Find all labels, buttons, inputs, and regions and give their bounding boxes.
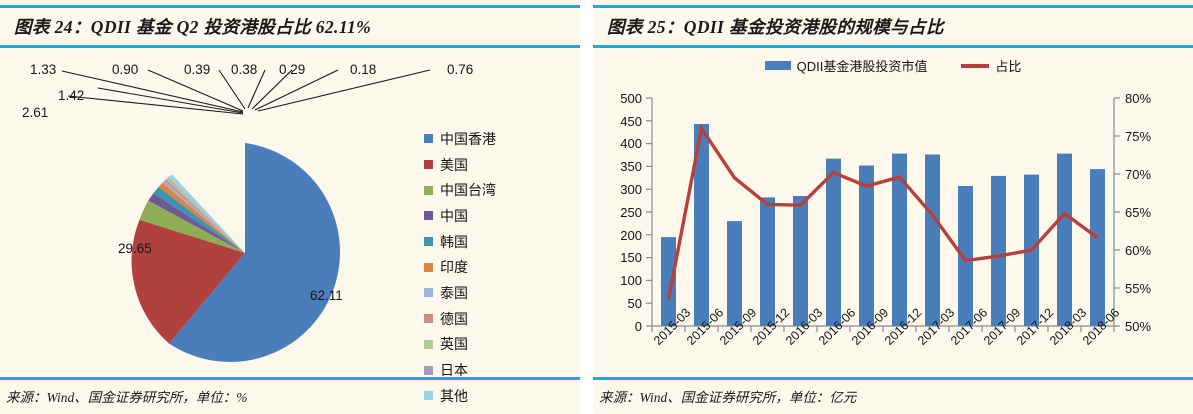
- bar-2017-09: [991, 176, 1006, 326]
- pie-value-label-0-39: 0.39: [184, 62, 210, 77]
- figure-24-source-block: 来源：Wind、国金证券研究所，单位：%: [0, 377, 580, 414]
- pie-value-label-62-11: 62.11: [310, 288, 343, 303]
- pie-value-label-1-33: 1.33: [30, 62, 56, 77]
- pie-value-label-1-42: 1.42: [58, 88, 84, 103]
- bar-2017-03: [925, 155, 940, 327]
- pie-legend: 中国香港 美国 中国台湾 中国 韩国: [424, 126, 496, 409]
- legend-swatch-icon: [424, 160, 433, 169]
- bar-2016-09: [859, 166, 874, 327]
- pie-legend-item-7[interactable]: 德国: [424, 306, 496, 332]
- left-axis-tick-200: 200: [596, 228, 642, 243]
- pie-legend-label: 英国: [440, 334, 468, 354]
- pie-legend-item-0[interactable]: 中国香港: [424, 126, 496, 152]
- left-axis-tick-150: 150: [596, 250, 642, 265]
- pie-legend-item-1[interactable]: 美国: [424, 152, 496, 178]
- legend-swatch-icon: [424, 237, 433, 246]
- pie-legend-item-8[interactable]: 英国: [424, 332, 496, 358]
- pie-legend-label: 中国台湾: [440, 180, 496, 200]
- pie-value-label-29-65: 29.65: [118, 241, 152, 256]
- pie-value-label-0-18: 0.18: [350, 62, 376, 77]
- pie-chart-area: 1.33 1.42 2.61 0.90 0.39 0.38 0.29 0.18 …: [0, 48, 580, 363]
- right-axis-ticks: [1114, 98, 1120, 326]
- pie-legend-item-2[interactable]: 中国台湾: [424, 177, 496, 203]
- legend-swatch-icon: [424, 186, 433, 195]
- left-axis-tick-350: 350: [596, 159, 642, 174]
- bar-series-market-value: [661, 124, 1105, 326]
- pie-legend-label: 泰国: [440, 283, 468, 303]
- legend-swatch-icon: [424, 288, 433, 297]
- bar-2015-12: [760, 197, 775, 326]
- left-axis-tick-100: 100: [596, 273, 642, 288]
- right-axis-tick-80: 80%: [1125, 91, 1151, 106]
- left-axis-tick-50: 50: [596, 296, 642, 311]
- pie-value-label-2-61: 2.61: [22, 105, 48, 120]
- legend-swatch-icon: [424, 340, 433, 349]
- bar-chart-area: QDII基金港股投资市值 占比: [593, 48, 1193, 378]
- pie-legend-label: 中国香港: [440, 129, 496, 149]
- left-axis-tick-300: 300: [596, 182, 642, 197]
- pie-legend-item-3[interactable]: 中国: [424, 203, 496, 229]
- bar-2018-06: [1090, 169, 1105, 326]
- bar-2015-09: [727, 221, 742, 326]
- figure-25-panel: 图表 25：QDII 基金投资港股的规模与占比 QDII基金港股投资市值 占比: [593, 0, 1193, 414]
- panel-gutter: [580, 0, 593, 414]
- left-axis-ticks: [646, 98, 652, 326]
- right-axis-tick-50: 50%: [1125, 319, 1151, 334]
- figure-24-source: 来源：Wind、国金证券研究所，单位：%: [0, 380, 580, 414]
- pie-value-label-0-76: 0.76: [447, 62, 473, 77]
- bar-2016-06: [826, 159, 841, 326]
- left-axis-tick-0: 0: [596, 319, 642, 334]
- right-axis-tick-75: 75%: [1125, 129, 1151, 144]
- bar-2018-03: [1057, 154, 1072, 326]
- legend-swatch-icon: [424, 134, 433, 143]
- pie-legend-item-6[interactable]: 泰国: [424, 280, 496, 306]
- report-figures-page: 图表 24：QDII 基金 Q2 投资港股占比 62.11%: [0, 0, 1193, 414]
- pie-legend-label: 韩国: [440, 232, 468, 252]
- pie-legend-item-4[interactable]: 韩国: [424, 229, 496, 255]
- pie-slices: [132, 143, 340, 362]
- pie-value-label-0-38: 0.38: [231, 62, 257, 77]
- pie-legend-label: 中国: [440, 206, 468, 226]
- figure-24-panel: 图表 24：QDII 基金 Q2 投资港股占比 62.11%: [0, 0, 580, 414]
- left-axis-tick-250: 250: [596, 205, 642, 220]
- bar-2016-03: [793, 196, 808, 326]
- pie-legend-label: 美国: [440, 155, 468, 175]
- left-axis-tick-500: 500: [596, 91, 642, 106]
- pie-value-label-0-90: 0.90: [112, 62, 138, 77]
- pie-value-label-0-29: 0.29: [279, 62, 305, 77]
- legend-swatch-icon: [424, 314, 433, 323]
- bar-2015-03: [661, 237, 676, 326]
- pie-legend-label: 德国: [440, 309, 468, 329]
- legend-swatch-icon: [424, 366, 433, 375]
- figure-25-source: 来源：Wind、国金证券研究所，单位：亿元: [593, 380, 1193, 414]
- left-axis-tick-450: 450: [596, 114, 642, 129]
- right-axis-tick-55: 55%: [1125, 281, 1151, 296]
- legend-swatch-icon: [424, 211, 433, 220]
- right-axis-tick-60: 60%: [1125, 243, 1151, 258]
- right-axis-tick-70: 70%: [1125, 167, 1151, 182]
- left-axis-tick-400: 400: [596, 136, 642, 151]
- right-axis-tick-65: 65%: [1125, 205, 1151, 220]
- figure-25-title: 图表 25：QDII 基金投资港股的规模与占比: [593, 8, 1193, 45]
- figure-25-source-block: 来源：Wind、国金证券研究所，单位：亿元: [593, 377, 1193, 414]
- figure-24-title: 图表 24：QDII 基金 Q2 投资港股占比 62.11%: [0, 8, 580, 45]
- legend-swatch-icon: [424, 263, 433, 272]
- pie-legend-item-5[interactable]: 印度: [424, 254, 496, 280]
- pie-legend-label: 印度: [440, 257, 468, 277]
